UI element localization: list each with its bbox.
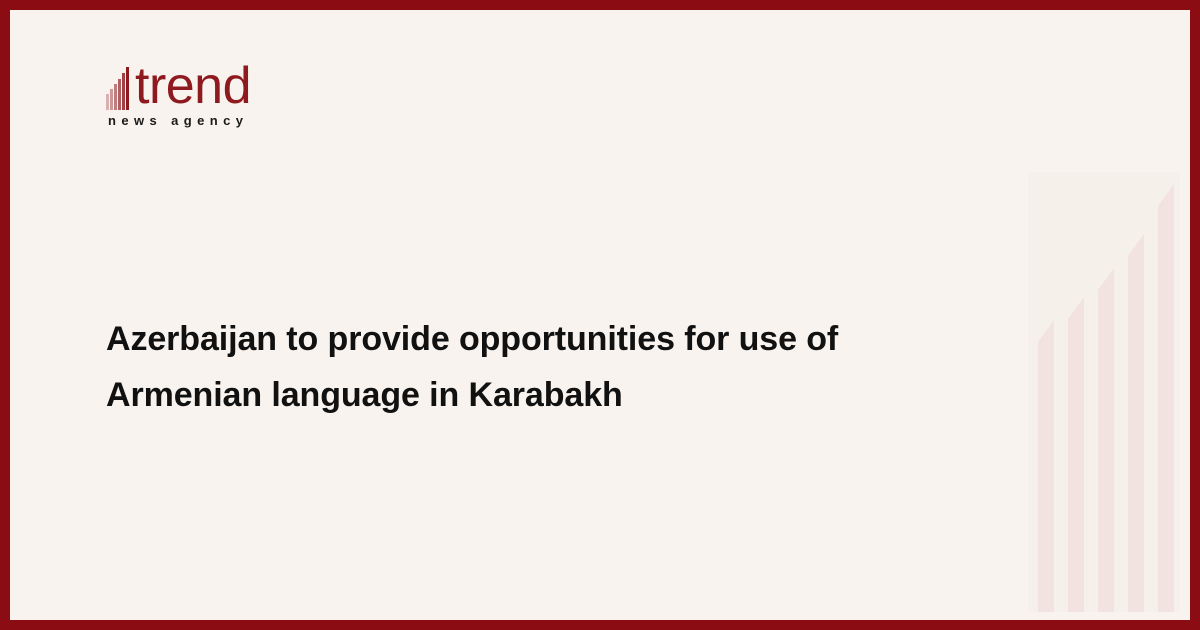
decor-bar	[1038, 320, 1054, 612]
logo-mark-row: trend	[106, 54, 296, 110]
decor-bar	[1128, 234, 1144, 612]
ascending-bars-icon	[106, 62, 134, 110]
logo-tagline: news agency	[108, 113, 296, 128]
logo-wordmark: trend	[135, 62, 251, 110]
trend-logo[interactable]: trend news agency	[106, 54, 296, 140]
ascending-bars-graphic	[1028, 172, 1180, 612]
decor-bar	[1158, 184, 1174, 612]
bar-cap	[1068, 297, 1084, 319]
decor-bar	[1068, 297, 1084, 612]
bar-cap	[1158, 184, 1174, 206]
decor-bar	[1098, 268, 1114, 612]
bar-cap	[1128, 234, 1144, 256]
share-card: trend news agency Azerbaijan to provide …	[0, 0, 1200, 630]
headline: Azerbaijan to provide opportunities for …	[106, 311, 966, 423]
bar-cap	[1098, 268, 1114, 290]
bar-cap	[1038, 320, 1054, 342]
